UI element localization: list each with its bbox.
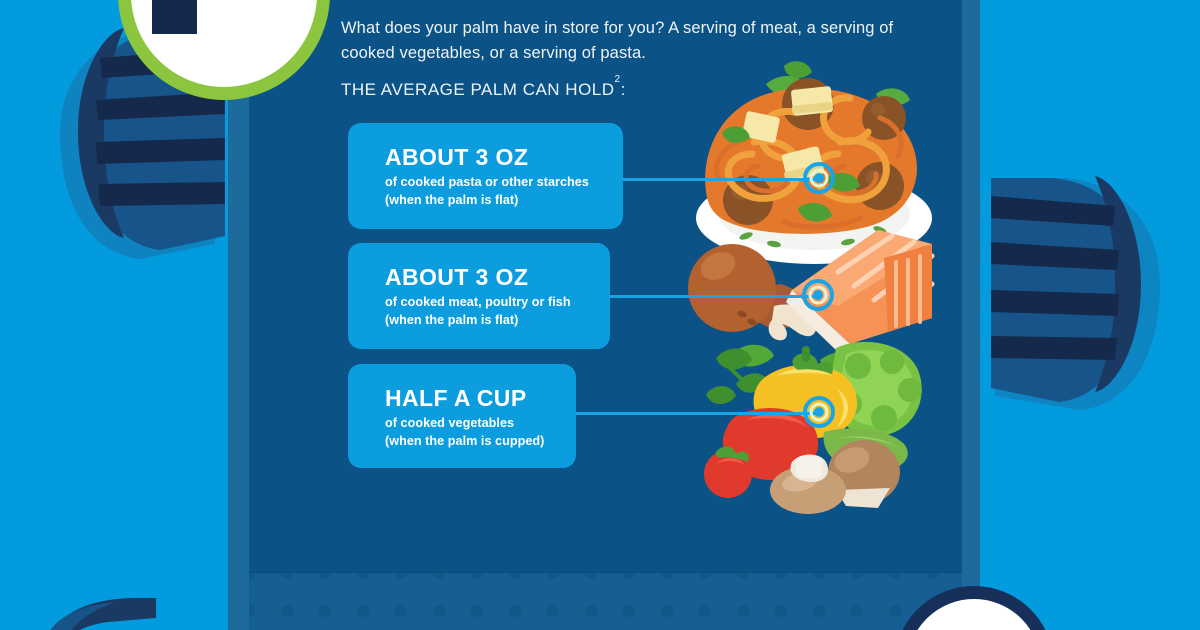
card-description-line2: (when the palm is flat) (385, 192, 623, 210)
chair-back-icon (985, 160, 1200, 430)
infographic-canvas: What does your palm have in store for yo… (0, 0, 1200, 630)
callout-card-vegetables[interactable]: HALF A CUP of cooked vegetables (when th… (348, 364, 576, 468)
card-description-line1: of cooked vegetables (385, 415, 576, 433)
mixed-vegetables-illustration (700, 340, 932, 520)
card-headline: HALF A CUP (385, 384, 576, 412)
footnote-marker: 2 (615, 74, 621, 85)
card-headline: ABOUT 3 OZ (385, 263, 610, 291)
protein-target-marker-icon[interactable] (802, 279, 834, 311)
callout-card-protein[interactable]: ABOUT 3 OZ of cooked meat, poultry or fi… (348, 243, 610, 349)
subhead-colon: : (621, 80, 626, 99)
connector-line-pasta (620, 178, 820, 181)
callout-card-pasta[interactable]: ABOUT 3 OZ of cooked pasta or other star… (348, 123, 623, 229)
card-headline: ABOUT 3 OZ (385, 143, 623, 171)
hand-holding-icon (150, 0, 320, 57)
card-description-line2: (when the palm is cupped) (385, 433, 576, 451)
card-description-line1: of cooked meat, poultry or fish (385, 294, 610, 312)
subhead-text: THE AVERAGE PALM CAN HOLD (341, 80, 615, 99)
pasta-target-marker-icon[interactable] (803, 162, 835, 194)
connector-line-vegetables (573, 412, 820, 415)
panel-right-edge (962, 0, 980, 630)
table-pattern-band (249, 573, 962, 630)
vegetables-target-marker-icon[interactable] (803, 396, 835, 428)
card-description-line2: (when the palm is flat) (385, 312, 610, 330)
chair-decor-bottom-left (38, 596, 158, 630)
chair-decor-right (985, 160, 1200, 430)
connector-line-protein (607, 295, 819, 298)
card-description-line1: of cooked pasta or other starches (385, 174, 623, 192)
section-subhead: THE AVERAGE PALM CAN HOLD2: (341, 80, 626, 100)
chair-back-icon (38, 596, 158, 630)
